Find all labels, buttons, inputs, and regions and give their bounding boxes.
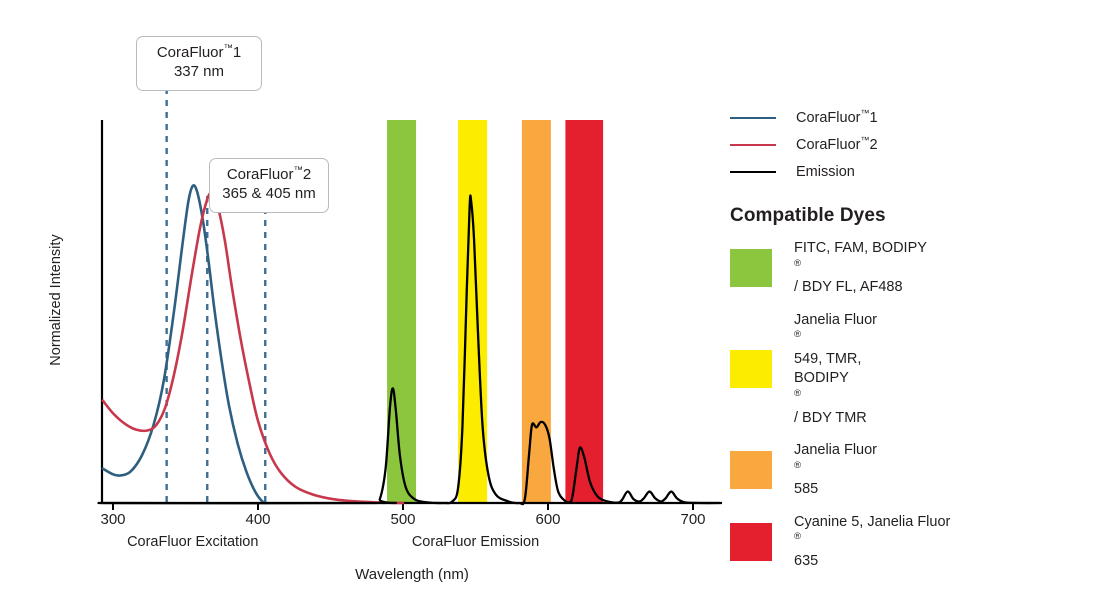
registered-icon: ® bbox=[794, 460, 801, 471]
registered-icon: ® bbox=[794, 531, 801, 542]
dye-green-base: FITC, FAM, BODIPY bbox=[794, 239, 927, 259]
callout-cf1-name: CoraFluor bbox=[157, 44, 224, 61]
excitation-marker-lines bbox=[167, 88, 266, 503]
color-swatch-red bbox=[730, 523, 772, 561]
callout-cf1-num: 1 bbox=[233, 44, 241, 61]
registered-icon: ® bbox=[794, 388, 801, 399]
x-tick-label-300: 300 bbox=[83, 511, 143, 528]
callout-cf2-num: 2 bbox=[303, 166, 311, 183]
registered-icon: ® bbox=[794, 329, 801, 340]
dye-item-red: Cyanine 5, Janelia Fluor® 635 bbox=[730, 513, 1100, 572]
callout-cf1-title: CoraFluor™1 bbox=[149, 44, 249, 63]
dye-yellow-tail: 549, TMR, bbox=[794, 350, 877, 370]
curve-excitation-2 bbox=[103, 193, 403, 503]
legend-item-emission: Emission bbox=[730, 158, 1100, 185]
callout-cf2-title: CoraFluor™2 bbox=[222, 166, 316, 185]
legend-and-dyes-panel: CoraFluor™1 CoraFluor™2 Emission Compati… bbox=[730, 104, 1100, 584]
dye-label-green-line1: FITC, FAM, BODIPY®/ BDY FL, AF488 bbox=[794, 239, 927, 298]
dye-label-green: FITC, FAM, BODIPY®/ BDY FL, AF488 bbox=[772, 239, 927, 298]
spectra-figure: CoraFluor™1 337 nm CoraFluor™2 365 & 405… bbox=[0, 0, 1110, 612]
x-tick-label-600: 600 bbox=[518, 511, 578, 528]
y-axis-label: Normalized Intensity bbox=[48, 220, 64, 380]
trademark-icon: ™ bbox=[224, 43, 233, 53]
dye-yellow-base2: BODIPY bbox=[794, 369, 877, 389]
x-axis-sublabel-emission: CoraFluor Emission bbox=[376, 534, 576, 550]
line-swatch-icon bbox=[730, 171, 776, 173]
legend-item-corafluor1: CoraFluor™1 bbox=[730, 104, 1100, 131]
legend-swatch-emission bbox=[730, 171, 782, 173]
dye-label-yellow-line2: BODIPY®/ BDY TMR bbox=[794, 369, 877, 428]
legend-label-emission: Emission bbox=[782, 164, 855, 180]
x-tick-label-700: 700 bbox=[663, 511, 723, 528]
line-swatch-icon bbox=[730, 144, 776, 146]
dye-orange-tail: 585 bbox=[794, 480, 877, 500]
orange-band bbox=[522, 120, 551, 503]
red-band bbox=[565, 120, 603, 503]
dye-label-yellow: Janelia Fluor® 549, TMR, BODIPY®/ BDY TM… bbox=[772, 311, 877, 428]
dye-red-base: Cyanine 5, Janelia Fluor bbox=[794, 513, 950, 533]
legend-label-corafluor2: CoraFluor™2 bbox=[782, 137, 878, 153]
compatible-dyes-title: Compatible Dyes bbox=[730, 205, 1100, 227]
dye-label-orange: Janelia Fluor® 585 bbox=[772, 441, 877, 500]
x-axis-sublabel-excitation: CoraFluor Excitation bbox=[93, 534, 293, 550]
callout-corafluor1: CoraFluor™1 337 nm bbox=[136, 36, 262, 91]
dye-yellow-base: Janelia Fluor bbox=[794, 311, 877, 331]
dye-red-tail: 635 bbox=[794, 552, 950, 572]
x-axis-label: Wavelength (nm) bbox=[0, 566, 824, 583]
legend-swatch-corafluor1 bbox=[730, 117, 782, 119]
dye-label-red: Cyanine 5, Janelia Fluor® 635 bbox=[772, 513, 950, 572]
legend-label-corafluor1-suffix: 1 bbox=[869, 110, 877, 126]
dye-item-yellow: Janelia Fluor® 549, TMR, BODIPY®/ BDY TM… bbox=[730, 311, 1100, 428]
dye-item-orange: Janelia Fluor® 585 bbox=[730, 441, 1100, 500]
dye-yellow-tail2: / BDY TMR bbox=[794, 409, 877, 429]
legend-label-corafluor2-suffix: 2 bbox=[869, 137, 877, 153]
callout-cf1-value: 337 nm bbox=[149, 63, 249, 82]
color-swatch-green bbox=[730, 249, 772, 287]
line-swatch-icon bbox=[730, 117, 776, 119]
dye-label-yellow-line1: Janelia Fluor® 549, TMR, bbox=[794, 311, 877, 370]
dye-orange-base: Janelia Fluor bbox=[794, 441, 877, 461]
x-tick-label-400: 400 bbox=[228, 511, 288, 528]
legend-label-corafluor1: CoraFluor™1 bbox=[782, 110, 878, 126]
x-tick-label-500: 500 bbox=[373, 511, 433, 528]
green-band bbox=[387, 120, 416, 503]
emission-bands-group bbox=[387, 120, 603, 503]
legend-label-corafluor2-base: CoraFluor bbox=[796, 137, 860, 153]
callout-corafluor2: CoraFluor™2 365 & 405 nm bbox=[209, 158, 329, 213]
legend-label-corafluor1-base: CoraFluor bbox=[796, 110, 860, 126]
registered-icon: ® bbox=[794, 258, 801, 269]
callout-cf2-value: 365 & 405 nm bbox=[222, 185, 316, 204]
dye-label-orange-line1: Janelia Fluor® 585 bbox=[794, 441, 877, 500]
trademark-icon: ™ bbox=[294, 165, 303, 175]
legend-swatch-corafluor2 bbox=[730, 144, 782, 146]
color-swatch-yellow bbox=[730, 350, 772, 388]
dye-item-green: FITC, FAM, BODIPY®/ BDY FL, AF488 bbox=[730, 239, 1100, 298]
dye-green-tail: / BDY FL, AF488 bbox=[794, 278, 927, 298]
callout-cf2-name: CoraFluor bbox=[227, 166, 294, 183]
color-swatch-orange bbox=[730, 451, 772, 489]
dye-label-red-line1: Cyanine 5, Janelia Fluor® 635 bbox=[794, 513, 950, 572]
legend-item-corafluor2: CoraFluor™2 bbox=[730, 131, 1100, 158]
